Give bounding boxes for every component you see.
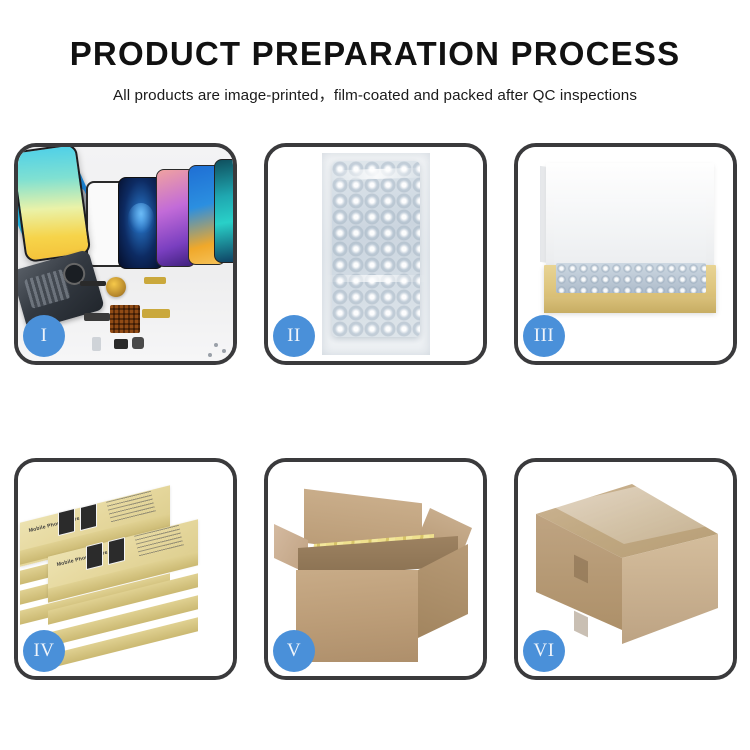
header: PRODUCT PREPARATION PROCESS All products… bbox=[0, 0, 750, 105]
phone-teal-swirl bbox=[214, 159, 233, 263]
mailer-lid-inner bbox=[554, 199, 706, 265]
speaker-mesh-part bbox=[80, 281, 106, 286]
camera-module-part bbox=[106, 277, 126, 297]
process-step-3: III bbox=[514, 143, 737, 365]
bubble-wrap-sheen-mid bbox=[326, 275, 426, 282]
step-badge-1: I bbox=[23, 315, 65, 357]
page-title: PRODUCT PREPARATION PROCESS bbox=[0, 36, 750, 72]
bubble-wrapped-contents bbox=[556, 263, 706, 293]
step-badge-5: V bbox=[273, 630, 315, 672]
step-badge-2: II bbox=[273, 315, 315, 357]
step-badge-3: III bbox=[523, 315, 565, 357]
step-badge-4: IV bbox=[23, 630, 65, 672]
process-step-1: I bbox=[14, 143, 237, 365]
sim-tray-part bbox=[92, 337, 101, 351]
retail-box-window-2a bbox=[86, 542, 103, 570]
bubble-wrap-bubbles bbox=[332, 161, 420, 337]
taptic-engine-part bbox=[132, 337, 144, 349]
product-preparation-infographic: PRODUCT PREPARATION PROCESS All products… bbox=[0, 0, 750, 750]
battery-connector-part bbox=[114, 339, 128, 349]
volume-flex-part bbox=[84, 313, 110, 321]
process-step-4: Mobile Phone Spare Parts Mobile Phone Sp… bbox=[14, 458, 237, 680]
charging-flex-part bbox=[142, 309, 170, 318]
process-step-2: II bbox=[264, 143, 487, 365]
power-flex-cable-part bbox=[144, 277, 166, 284]
page-subtitle: All products are image-printed，film-coat… bbox=[0, 83, 750, 105]
mailer-tray-front bbox=[544, 297, 716, 313]
process-step-6: VI bbox=[514, 458, 737, 680]
ic-chip-array-part bbox=[110, 305, 140, 333]
process-step-grid: I II III bbox=[14, 143, 736, 680]
retail-box-window-2b bbox=[108, 537, 125, 565]
process-step-5: V bbox=[264, 458, 487, 680]
step-badge-6: VI bbox=[523, 630, 565, 672]
retail-box-window-1a bbox=[58, 508, 75, 536]
retail-box-window-1b bbox=[80, 503, 97, 531]
